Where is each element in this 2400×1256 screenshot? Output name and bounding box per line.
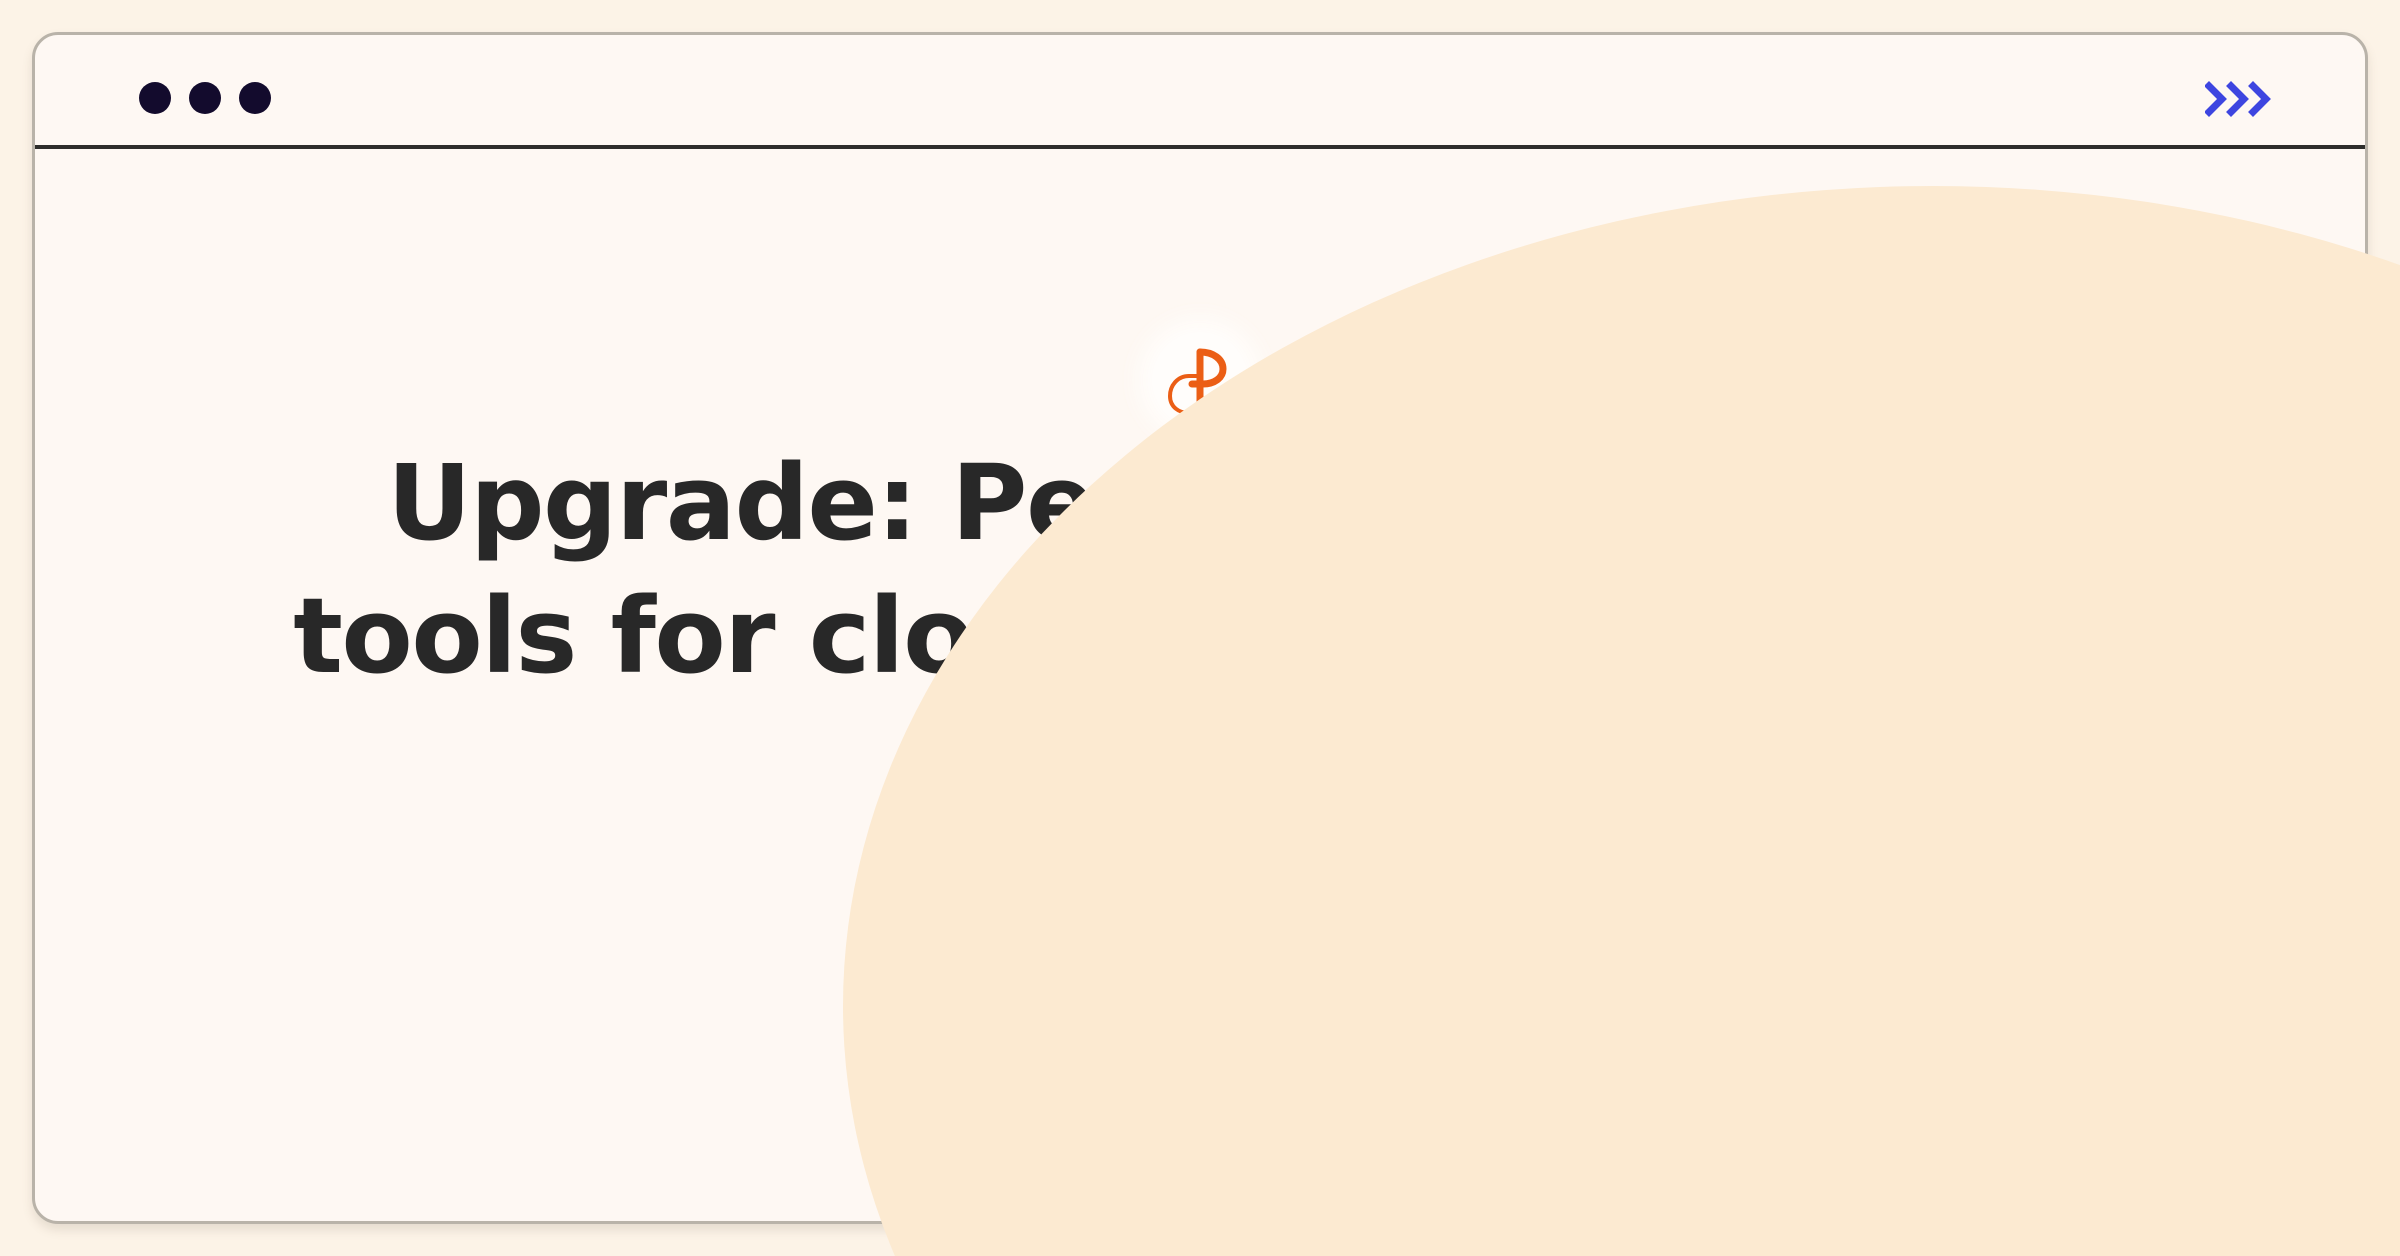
traffic-light-dot-3[interactable] (239, 82, 271, 114)
infinity-loop-logo-icon (1167, 344, 1233, 416)
page-title: Upgrade: Persistent DevOps tools for clo… (200, 437, 2200, 703)
triple-chevron-right-icon[interactable] (2205, 81, 2279, 117)
traffic-light-dot-1[interactable] (139, 82, 171, 114)
slide-root: Upgrade: Persistent DevOps tools for clo… (0, 0, 2400, 1256)
browser-window-card: Upgrade: Persistent DevOps tools for clo… (32, 32, 2368, 1224)
rocket-emoji-icon (1145, 707, 1255, 817)
window-titlebar (35, 35, 2365, 147)
traffic-light-dots (139, 82, 271, 114)
slide-content: Upgrade: Persistent DevOps tools for clo… (35, 147, 2365, 1221)
brand-logo-badge (1152, 332, 1248, 428)
titlebar-divider (35, 145, 2365, 149)
traffic-light-dot-2[interactable] (189, 82, 221, 114)
